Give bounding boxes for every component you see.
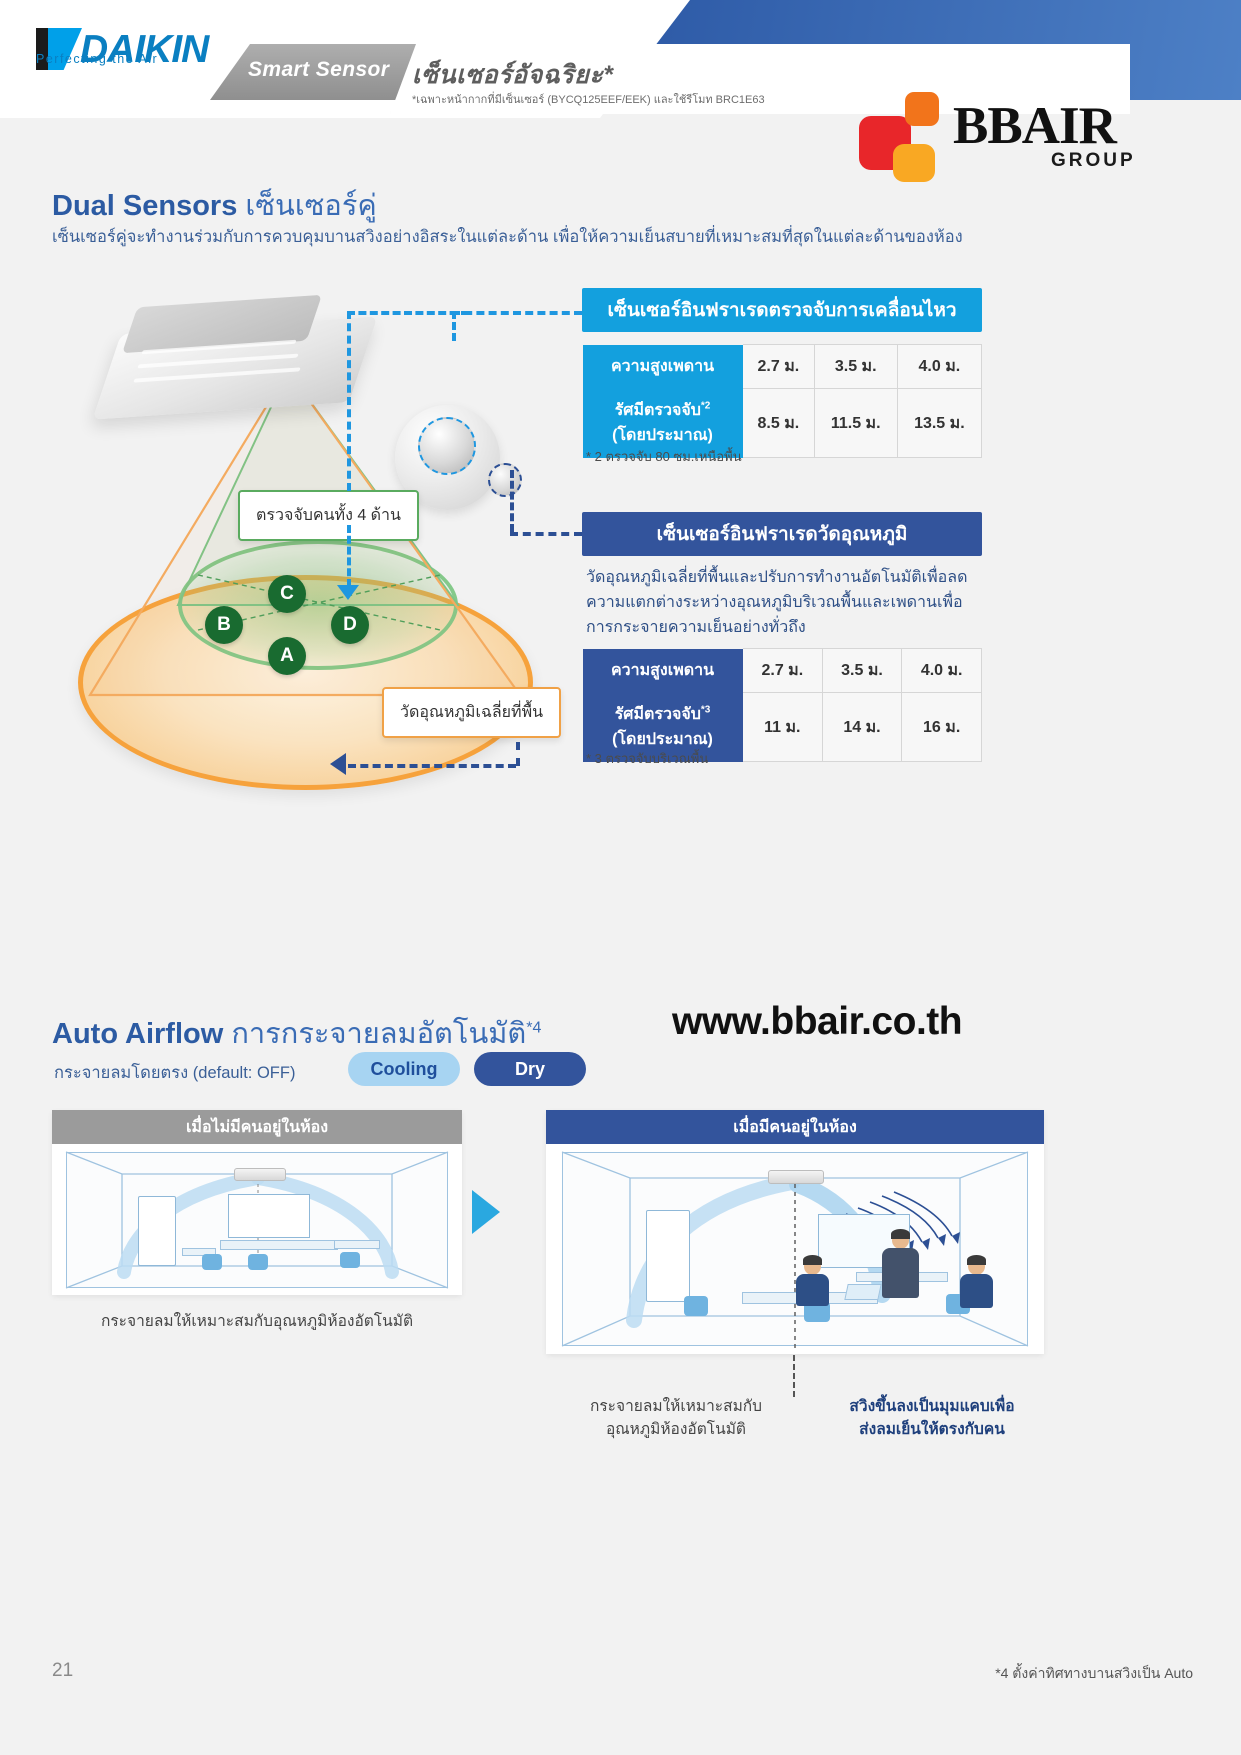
room-panel-empty-header: เมื่อไม่มีคนอยู่ในห้อง — [52, 1110, 462, 1144]
room-panel-empty-caption: กระจายลมให้เหมาะสมกับอุณหภูมิห้องอัตโนมั… — [52, 1310, 462, 1333]
door-occupied — [646, 1210, 690, 1302]
motion-sensor-table: ความสูงเพดาน 2.7 ม. 3.5 ม. 4.0 ม. รัศมีต… — [582, 344, 982, 458]
room-panel-occupied: เมื่อมีคนอยู่ในห้อง — [546, 1110, 1044, 1354]
motion-callout-arrow-icon — [337, 585, 359, 600]
motion-table-heading: เซ็นเซอร์อินฟราเรดตรวจจับการเคลื่อนไหว — [582, 288, 982, 332]
zone-marker-c: C — [268, 575, 306, 613]
floor-temp-arrow-icon — [330, 753, 346, 775]
ceiling-unit-empty — [234, 1168, 286, 1181]
smart-sensor-thai-title: เซ็นเซอร์อัจฉริยะ* — [412, 55, 613, 95]
temp-row1-v3: 4.0 ม. — [902, 649, 982, 693]
desk-empty — [220, 1240, 338, 1250]
motion-row1-v2: 3.5 ม. — [814, 345, 897, 389]
motion-row1-label: ความสูงเพดาน — [583, 345, 743, 389]
temp-table-description: วัดอุณหภูมิเฉลี่ยที่พื้นและปรับการทำงานอ… — [586, 566, 986, 640]
sensor-link-top — [347, 311, 469, 315]
laptop-icon — [844, 1284, 881, 1300]
sensor-link-down — [347, 311, 351, 491]
whiteboard-empty — [228, 1194, 310, 1238]
dual-sensors-heading-en: Dual Sensors — [52, 190, 237, 222]
occupied-caption-line1: กระจายลมให้เหมาะสมกับ — [590, 1398, 762, 1415]
table-row: ความสูงเพดาน 2.7 ม. 3.5 ม. 4.0 ม. — [583, 649, 982, 693]
zone-marker-d: D — [331, 606, 369, 644]
floor-temp-connector — [348, 764, 516, 768]
temp-sensor-table-wrap: ความสูงเพดาน 2.7 ม. 3.5 ม. 4.0 ม. รัศมีต… — [582, 648, 982, 762]
temperature-callout: วัดอุณหภูมิเฉลี่ยที่พื้น — [382, 687, 561, 738]
temp-row2-v2: 14 ม. — [822, 693, 902, 762]
temp-row2-v1: 11 ม. — [743, 693, 823, 762]
smart-sensor-thai-note: *เฉพาะหน้ากากที่มีเซ็นเซอร์ (BYCQ125EEF/… — [412, 90, 765, 108]
motion-row1-v1: 2.7 ม. — [743, 345, 815, 389]
temperature-sensor-icon — [488, 463, 522, 497]
occupied-caption-line2: อุณหภูมิห้องอัตโนมัติ — [606, 1421, 746, 1438]
room-panel-occupied-caption-left: กระจายลมให้เหมาะสมกับ อุณหภูมิห้องอัตโนม… — [556, 1395, 796, 1442]
room-panel-empty: เมื่อไม่มีคนอยู่ในห้อง — [52, 1110, 462, 1295]
motion-row2-label-sub: (โดยประมาณ) — [612, 427, 713, 444]
temp-sensor-table-block: เซ็นเซอร์อินฟราเรดวัดอุณหภูมิ — [582, 512, 982, 556]
motion-sensor-icon — [418, 417, 476, 475]
motion-sensor-table-block: เซ็นเซอร์อินฟราเรดตรวจจับการเคลื่อนไหว ค… — [582, 288, 982, 458]
caption-divider — [793, 1355, 795, 1397]
dual-sensors-heading-th: เซ็นเซอร์คู่ — [245, 190, 376, 222]
temp-row1-v2: 3.5 ม. — [822, 649, 902, 693]
website-url[interactable]: www.bbair.co.th — [672, 1000, 962, 1044]
motion-row1-v3: 4.0 ม. — [897, 345, 981, 389]
room-illustration-empty — [52, 1144, 462, 1295]
motion-table-connector-v — [452, 311, 456, 341]
temp-row2-label-main: รัศมีตรวจจับ — [615, 706, 701, 723]
room-panel-occupied-header: เมื่อมีคนอยู่ในห้อง — [546, 1110, 1044, 1144]
transition-arrow-icon — [472, 1190, 500, 1234]
motion-row2-v2: 11.5 ม. — [814, 389, 897, 458]
door-empty — [138, 1196, 176, 1266]
temp-row1-label: ความสูงเพดาน — [583, 649, 743, 693]
desk-empty-2 — [334, 1240, 380, 1249]
smart-sensor-badge-label: Smart Sensor — [248, 58, 389, 82]
occupied-caption-bold1: สวิงขึ้นลงเป็นมุมแคบเพื่อ — [849, 1398, 1014, 1415]
motion-callout: ตรวจจับคนทั้ง 4 ด้าน — [238, 490, 419, 541]
motion-table-footnote: * 2 ตรวจจับ 80 ซม.เหนือพื้น — [586, 446, 742, 467]
dry-pill[interactable]: Dry — [474, 1052, 586, 1086]
sensor-diagram: C B D A ตรวจจับคนทั้ง 4 ด้าน วัดอุณหภูมิ… — [60, 275, 570, 875]
auto-airflow-note: กระจายลมโดยตรง (default: OFF) — [54, 1060, 295, 1086]
bbair-orange-square-icon — [905, 92, 939, 126]
auto-airflow-heading-th: การกระจายลมอัตโนมัติ — [231, 1018, 526, 1050]
floor-temp-connector-v — [516, 742, 520, 766]
bbair-yellow-square-icon — [893, 144, 935, 182]
temp-table-connector-h — [510, 532, 582, 536]
brochure-page: Smart Sensor เซ็นเซอร์อัจฉริยะ* *เฉพาะหน… — [0, 0, 1241, 1755]
cooling-pill[interactable]: Cooling — [348, 1052, 460, 1086]
chair-empty-2 — [248, 1254, 268, 1270]
temp-table-connector-v — [510, 470, 514, 532]
footer-note: *4 ตั้งค่าทิศทางบานสวิงเป็น Auto — [995, 1663, 1193, 1685]
temp-sensor-table: ความสูงเพดาน 2.7 ม. 3.5 ม. 4.0 ม. รัศมีต… — [582, 648, 982, 762]
temp-row2-label-sup: *3 — [701, 705, 710, 716]
dual-sensors-subtitle: เซ็นเซอร์คู่จะทำงานร่วมกับการควบคุมบานสว… — [52, 224, 1012, 250]
motion-callout-connector — [347, 525, 351, 587]
table-row: ความสูงเพดาน 2.7 ม. 3.5 ม. 4.0 ม. — [583, 345, 982, 389]
room-illustration-occupied — [546, 1144, 1044, 1354]
ceiling-unit-occupied — [768, 1170, 824, 1184]
bbair-wordmark: BBAIR — [953, 96, 1116, 156]
motion-row2-v1: 8.5 ม. — [743, 389, 815, 458]
zone-marker-b: B — [205, 606, 243, 644]
room-panel-occupied-caption-right: สวิงขึ้นลงเป็นมุมแคบเพื่อ ส่งลมเย็นให้ตร… — [812, 1395, 1052, 1442]
motion-row2-label-sup: *2 — [701, 401, 710, 412]
chair-empty-3 — [340, 1252, 360, 1268]
chair-empty-1 — [202, 1254, 222, 1270]
motion-row2-label-main: รัศมีตรวจจับ — [615, 402, 701, 419]
page-number: 21 — [52, 1660, 73, 1682]
motion-row2-v3: 13.5 ม. — [897, 389, 981, 458]
dual-sensors-heading: Dual Sensors เซ็นเซอร์คู่ — [52, 182, 377, 228]
motion-table-connector — [452, 311, 582, 315]
daikin-tagline: Perfecting the Air — [36, 52, 158, 66]
zone-marker-a: A — [268, 637, 306, 675]
auto-airflow-heading: Auto Airflow การกระจายลมอัตโนมัติ*4 — [52, 1010, 541, 1056]
auto-airflow-heading-en: Auto Airflow — [52, 1018, 223, 1050]
bbair-logo: BBAIR GROUP — [845, 92, 1135, 178]
temp-table-heading: เซ็นเซอร์อินฟราเรดวัดอุณหภูมิ — [582, 512, 982, 556]
temp-table-footnote: * 3 ตรวจจับบริเวณพื้น — [586, 748, 708, 769]
temp-row2-label-sub: (โดยประมาณ) — [612, 731, 713, 748]
occupied-caption-bold2: ส่งลมเย็นให้ตรงกับคน — [859, 1421, 1005, 1438]
temp-row2-v3: 16 ม. — [902, 693, 982, 762]
chair-occupied-1 — [684, 1296, 708, 1316]
bbair-group-label: GROUP — [1051, 150, 1136, 172]
temp-row1-v1: 2.7 ม. — [743, 649, 823, 693]
auto-airflow-heading-sup: *4 — [526, 1019, 541, 1036]
